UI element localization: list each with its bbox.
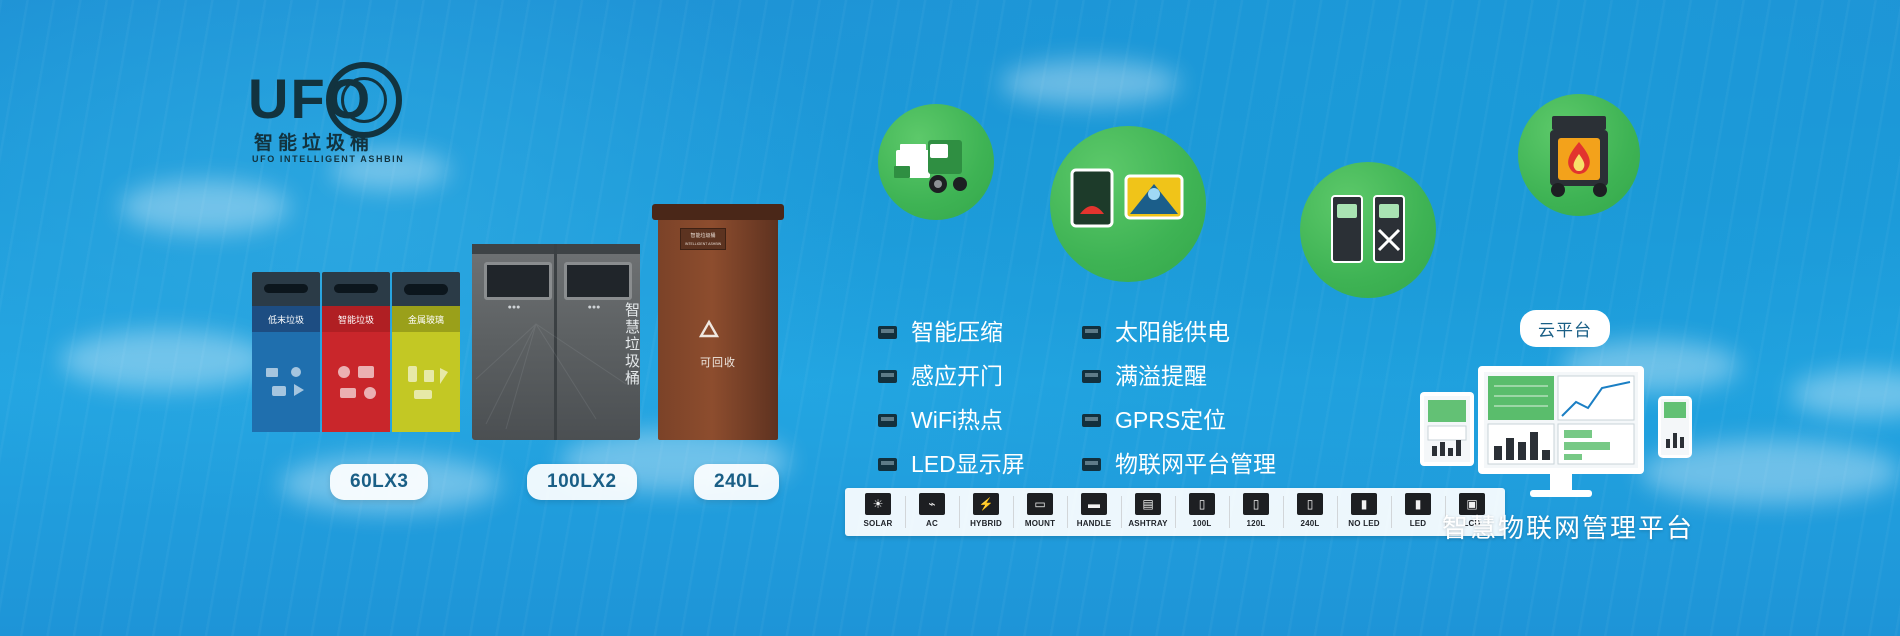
bin-body <box>252 332 320 432</box>
feature-column-2: 太阳能供电 满溢提醒 GPRS定位 物联网平台管理 <box>1082 310 1276 486</box>
dashboard-graphic-icon <box>1484 372 1638 468</box>
platform-phone <box>1658 396 1692 458</box>
feature-label: 智能压缩 <box>911 310 1003 354</box>
option-solar[interactable]: ☀SOLAR <box>851 492 905 532</box>
bin-lid <box>392 272 460 306</box>
feature-item: 感应开门 <box>878 354 1025 398</box>
logo-chinese-text: 智能垃圾桶 <box>254 128 374 155</box>
bin-240l-icon: ▯ <box>1297 493 1323 515</box>
bin-recycle-text: 可回收 <box>658 354 778 370</box>
green-circle-solar <box>1050 126 1206 282</box>
mount-icon: ▭ <box>1027 493 1053 515</box>
option-caption: 100L <box>1192 519 1211 528</box>
feature-label: 满溢提醒 <box>1115 354 1207 398</box>
bin-product-label-cn: 智能垃圾桶 <box>681 232 725 240</box>
recycle-triangle-icon <box>694 318 724 348</box>
platform-monitor <box>1478 366 1648 500</box>
cloud-decoration <box>60 330 270 390</box>
logo-english-text: UFO INTELLIGENT ASHBIN <box>252 154 404 164</box>
option-caption: MOUNT <box>1025 519 1055 528</box>
feature-item: 智能压缩 <box>878 310 1025 354</box>
bullet-icon <box>878 370 897 383</box>
monitor-screen <box>1478 366 1644 474</box>
option-100l[interactable]: ▯100L <box>1175 492 1229 532</box>
tablet-dashboard-icon <box>1424 396 1470 462</box>
monitor-base <box>1530 490 1592 497</box>
metal-glass-graphic-icon <box>400 360 460 406</box>
feature-item: WiFi热点 <box>878 398 1025 442</box>
double-bin: ●●● ●●● 智慧垃圾桶 <box>472 244 640 440</box>
bin-lid <box>652 204 784 220</box>
bin-lid <box>252 272 320 306</box>
cloud-decoration <box>1000 60 1180 106</box>
option-led[interactable]: ▮LED <box>1391 492 1445 532</box>
bin-compartment-label: 金属玻璃 <box>392 306 460 332</box>
green-circle-twin-bins <box>1300 162 1436 298</box>
hybrid-icon: ⚡ <box>973 493 999 515</box>
bin-compartment-smart: 智能垃圾 <box>322 272 390 432</box>
bullet-icon <box>1082 326 1101 339</box>
bin-body <box>392 332 460 432</box>
solar-panel-icon <box>1050 126 1206 282</box>
feature-item: 满溢提醒 <box>1082 354 1276 398</box>
option-icon-strip: ☀SOLAR ⌁AC ⚡HYBRID ▭MOUNT ▬HANDLE ▤ASHTR… <box>845 488 1505 536</box>
bin-slot <box>334 284 378 293</box>
feature-item: 太阳能供电 <box>1082 310 1276 354</box>
ac-plug-icon: ⌁ <box>919 493 945 515</box>
capacity-label-240l: 240L <box>694 464 779 500</box>
surface-pattern-icon <box>476 284 636 434</box>
bin-compartment-label: 智能垃圾 <box>322 306 390 332</box>
bin-compartment-recyclable: 低末垃圾 <box>252 272 320 432</box>
bin-product-label: 智能垃圾桶 INTELLIGENT ASHBIN <box>680 228 726 250</box>
capacity-label-60lx3: 60LX3 <box>330 464 428 500</box>
bullet-icon <box>1082 414 1101 427</box>
bullet-icon <box>1082 458 1101 471</box>
cloud-platform-tag: 云平台 <box>1520 310 1610 347</box>
option-caption: 120L <box>1246 519 1265 528</box>
bin-100l-icon: ▯ <box>1189 493 1215 515</box>
option-caption: HYBRID <box>970 519 1002 528</box>
option-caption: LED <box>1410 519 1427 528</box>
bin-product-label-en: INTELLIGENT ASHBIN <box>681 240 725 248</box>
tablet-screen <box>1424 396 1470 462</box>
logo-ring-icon <box>326 62 402 138</box>
bin-120l-icon: ▯ <box>1243 493 1269 515</box>
solar-icon: ☀ <box>865 493 891 515</box>
feature-item: GPRS定位 <box>1082 398 1276 442</box>
bin-slot <box>264 284 308 293</box>
feature-column-1: 智能压缩 感应开门 WiFi热点 LED显示屏 <box>878 310 1025 486</box>
option-ashtray[interactable]: ▤ASHTRAY <box>1121 492 1175 532</box>
ashtray-icon: ▤ <box>1135 493 1161 515</box>
bin-side-text: 智慧垃圾桶 <box>621 302 642 387</box>
bin-slot <box>404 284 448 295</box>
option-caption: NO LED <box>1348 519 1379 528</box>
recycle-graphic-icon <box>260 360 320 406</box>
bullet-icon <box>878 458 897 471</box>
led-icon: ▮ <box>1405 493 1431 515</box>
cloud-decoration <box>120 180 290 234</box>
option-mount[interactable]: ▭MOUNT <box>1013 492 1067 532</box>
truck-icon <box>878 104 994 220</box>
feature-label: WiFi热点 <box>911 398 1003 442</box>
platform-title: 智慧物联网管理平台 <box>1442 508 1694 545</box>
feature-label: 物联网平台管理 <box>1115 442 1276 486</box>
feature-label: 感应开门 <box>911 354 1003 398</box>
option-caption: ASHTRAY <box>1128 519 1167 528</box>
platform-tablet <box>1420 392 1474 466</box>
feature-item: LED显示屏 <box>878 442 1025 486</box>
option-caption: HANDLE <box>1077 519 1112 528</box>
cloud-decoration <box>1790 370 1900 418</box>
capacity-label-100lx2: 100LX2 <box>527 464 637 500</box>
phone-screen <box>1661 399 1689 455</box>
no-led-icon: ▮ <box>1351 493 1377 515</box>
phone-dashboard-icon <box>1661 399 1689 455</box>
feature-label: GPRS定位 <box>1115 398 1226 442</box>
bin-lid <box>322 272 390 306</box>
bin-compartment-metal-glass: 金属玻璃 <box>392 272 460 432</box>
bullet-icon <box>1082 370 1101 383</box>
green-circle-compaction <box>878 104 994 220</box>
feature-label: LED显示屏 <box>911 442 1025 486</box>
option-no-led[interactable]: ▮NO LED <box>1337 492 1391 532</box>
option-120l[interactable]: ▯120L <box>1229 492 1283 532</box>
twin-bins-icon <box>1300 162 1436 298</box>
monitor-screen-content <box>1484 372 1638 468</box>
feature-item: 物联网平台管理 <box>1082 442 1276 486</box>
option-caption: SOLAR <box>864 519 893 528</box>
option-caption: 240L <box>1300 519 1319 528</box>
brand-logo: UFO 智能垃圾桶 UFO INTELLIGENT ASHBIN <box>248 62 468 162</box>
option-hybrid[interactable]: ⚡HYBRID <box>959 492 1013 532</box>
option-handle[interactable]: ▬HANDLE <box>1067 492 1121 532</box>
bin-body <box>322 332 390 432</box>
handle-icon: ▬ <box>1081 493 1107 515</box>
option-240l[interactable]: ▯240L <box>1283 492 1337 532</box>
bin-compartment-label: 低末垃圾 <box>252 306 320 332</box>
brown-bin: 智能垃圾桶 INTELLIGENT ASHBIN 可回收 <box>658 212 778 440</box>
fire-icon <box>1518 94 1640 216</box>
option-caption: AC <box>926 519 938 528</box>
product-banner: UFO 智能垃圾桶 UFO INTELLIGENT ASHBIN 低末垃圾 <box>0 0 1900 636</box>
option-ac[interactable]: ⌁AC <box>905 492 959 532</box>
waste-graphic-icon <box>330 360 390 406</box>
green-circle-fire-alarm <box>1518 94 1640 216</box>
bullet-icon <box>878 326 897 339</box>
feature-label: 太阳能供电 <box>1115 310 1230 354</box>
bullet-icon <box>878 414 897 427</box>
triple-bin: 低末垃圾 智能垃圾 <box>252 272 462 432</box>
